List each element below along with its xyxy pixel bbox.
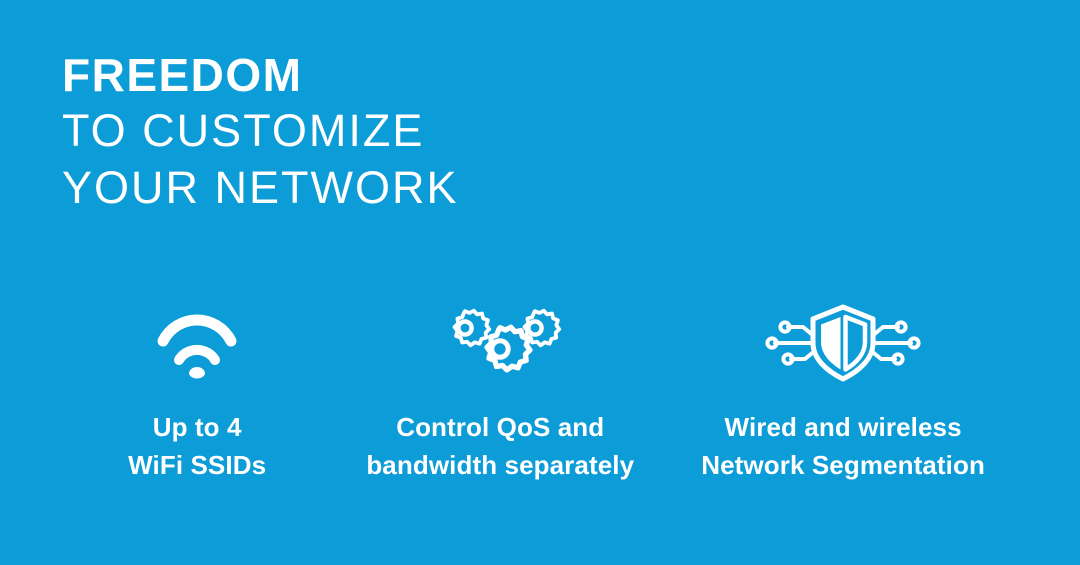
shield-network-icon: [761, 300, 925, 386]
feature-row: Up to 4 WiFi SSIDs: [0, 300, 1080, 484]
feature-caption-line-1: Wired and wireless: [701, 408, 985, 446]
feature-caption-line-2: bandwidth separately: [366, 446, 634, 484]
promo-banner: FREEDOM TO CUSTOMIZE YOUR NETWORK Up to …: [0, 0, 1080, 565]
headline-line-3: YOUR NETWORK: [62, 159, 459, 216]
headline-line-2: TO CUSTOMIZE: [62, 102, 459, 159]
feature-caption-line-2: Network Segmentation: [701, 446, 985, 484]
gears-icon: [436, 300, 564, 386]
feature-caption-wifi: Up to 4 WiFi SSIDs: [128, 408, 266, 484]
wifi-icon: [151, 300, 243, 386]
feature-item-segmentation: Wired and wireless Network Segmentation: [664, 300, 1022, 484]
feature-caption-segmentation: Wired and wireless Network Segmentation: [701, 408, 985, 484]
feature-caption-qos: Control QoS and bandwidth separately: [366, 408, 634, 484]
headline-line-1: FREEDOM: [62, 48, 459, 102]
feature-caption-line-2: WiFi SSIDs: [128, 446, 266, 484]
feature-caption-line-1: Control QoS and: [366, 408, 634, 446]
headline-block: FREEDOM TO CUSTOMIZE YOUR NETWORK: [62, 48, 459, 216]
feature-item-wifi: Up to 4 WiFi SSIDs: [58, 300, 336, 484]
feature-caption-line-1: Up to 4: [128, 408, 266, 446]
feature-item-qos: Control QoS and bandwidth separately: [336, 300, 664, 484]
